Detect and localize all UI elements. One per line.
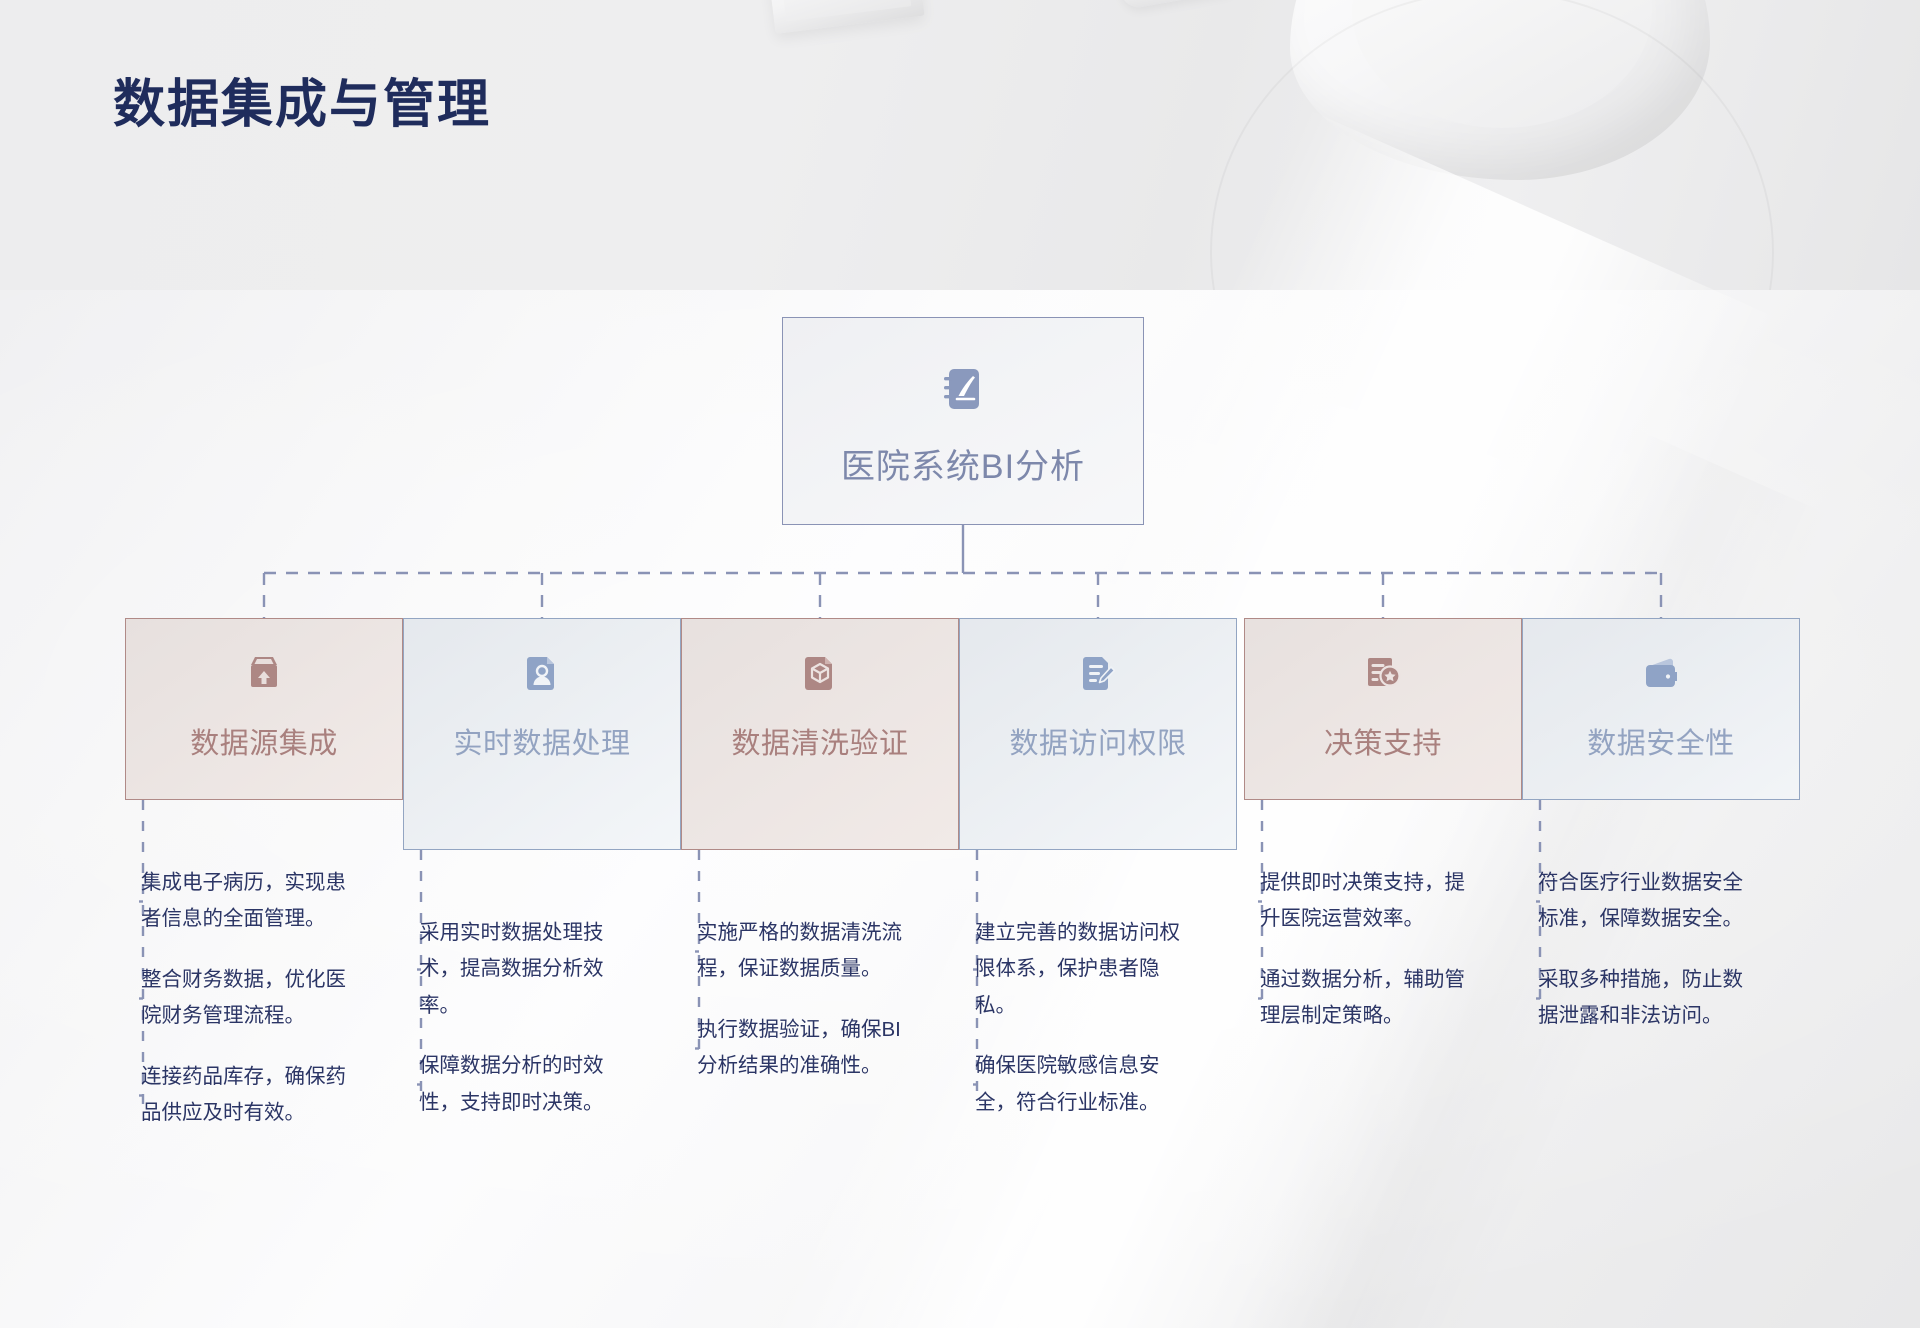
detail-item: 整合财务数据，优化医院财务管理流程。 <box>141 962 355 1035</box>
branch-card-4[interactable]: 数据访问权限 <box>959 618 1237 850</box>
document-edit-icon <box>1079 653 1117 696</box>
branch-card-2-label: 实时数据处理 <box>441 724 642 765</box>
detail-item: 确保医院敏感信息安全，符合行业标准。 <box>975 1048 1189 1121</box>
detail-column-3: 实施严格的数据清洗流程，保证数据质量。 执行数据验证，确保BI分析结果的准确性。 <box>697 915 911 1085</box>
detail-item: 通过数据分析，辅助管理层制定策略。 <box>1260 962 1474 1035</box>
detail-column-5: 提供即时决策支持，提升医院运营效率。 通过数据分析，辅助管理层制定策略。 <box>1260 865 1474 1035</box>
page-title: 数据集成与管理 <box>113 62 491 137</box>
detail-column-4: 建立完善的数据访问权限体系，保护患者隐私。 确保医院敏感信息安全，符合行业标准。 <box>975 915 1189 1121</box>
detail-item: 符合医疗行业数据安全标准，保障数据安全。 <box>1538 865 1752 938</box>
detail-item: 提供即时决策支持，提升医院运营效率。 <box>1260 865 1474 938</box>
branch-cards: 数据源集成 实时数据处理 数 <box>0 0 1920 1328</box>
branch-card-4-label: 数据访问权限 <box>997 724 1198 765</box>
branch-card-6-label: 数据安全性 <box>1575 724 1747 765</box>
detail-item: 保障数据分析的时效性，支持即时决策。 <box>419 1048 633 1121</box>
org-diagram: 医院系统BI分析 数据源集成 <box>0 0 1920 1328</box>
detail-column-6: 符合医疗行业数据安全标准，保障数据安全。 采取多种措施，防止数据泄露和非法访问。 <box>1538 865 1752 1035</box>
detail-item: 实施严格的数据清洗流程，保证数据质量。 <box>697 915 911 988</box>
box-document-icon <box>801 653 839 696</box>
detail-item: 建立完善的数据访问权限体系，保护患者隐私。 <box>975 915 1189 1024</box>
document-star-icon <box>1364 653 1402 696</box>
detail-item: 集成电子病历，实现患者信息的全面管理。 <box>141 865 355 938</box>
branch-card-1-label: 数据源集成 <box>178 724 350 765</box>
branch-card-3-label: 数据清洗验证 <box>719 724 920 765</box>
branch-card-5[interactable]: 决策支持 <box>1244 618 1522 800</box>
detail-column-1: 集成电子病历，实现患者信息的全面管理。 整合财务数据，优化医院财务管理流程。 连… <box>141 865 355 1132</box>
user-document-icon <box>523 653 561 696</box>
branch-card-5-label: 决策支持 <box>1312 724 1454 765</box>
detail-column-2: 采用实时数据处理技术，提高数据分析效率。 保障数据分析的时效性，支持即时决策。 <box>419 915 633 1121</box>
detail-item: 采取多种措施，防止数据泄露和非法访问。 <box>1538 962 1752 1035</box>
branch-card-6[interactable]: 数据安全性 <box>1522 618 1800 800</box>
detail-item: 执行数据验证，确保BI分析结果的准确性。 <box>697 1012 911 1085</box>
detail-item: 采用实时数据处理技术，提高数据分析效率。 <box>419 915 633 1024</box>
branch-card-1[interactable]: 数据源集成 <box>125 618 403 800</box>
branch-card-3[interactable]: 数据清洗验证 <box>681 618 959 850</box>
package-upload-icon <box>245 653 283 696</box>
wallet-icon <box>1642 653 1680 696</box>
branch-card-2[interactable]: 实时数据处理 <box>403 618 681 850</box>
detail-item: 连接药品库存，确保药品供应及时有效。 <box>141 1059 355 1132</box>
